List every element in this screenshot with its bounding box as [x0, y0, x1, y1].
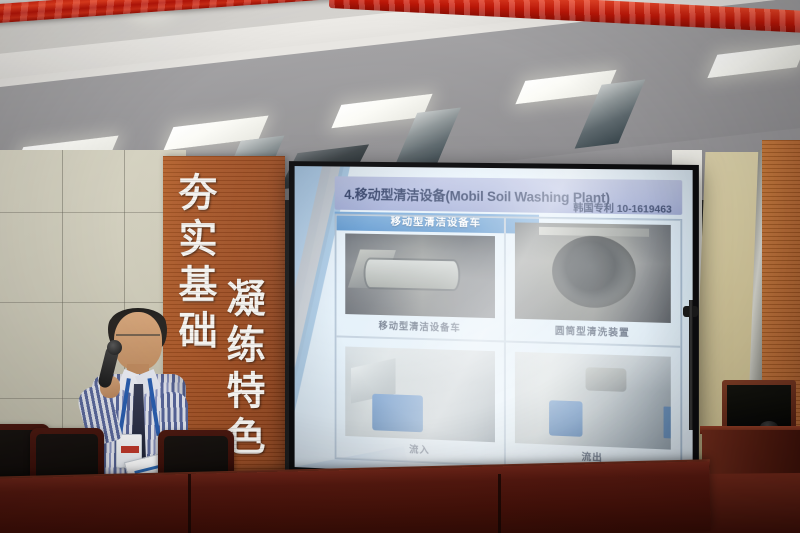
slide-surface: 4.移动型清洁设备(Mobil Soil Washing Plant) 韩国专利… — [295, 166, 693, 485]
floor-mic-stand — [689, 300, 693, 430]
slide-photo-cell: 流入 — [336, 336, 505, 465]
monitor-screen — [727, 385, 791, 431]
projection-screen: 4.移动型清洁设备(Mobil Soil Washing Plant) 韩国专利… — [289, 161, 699, 493]
photo-outflow-plant — [515, 352, 671, 450]
slide-photo-cell: 流出 — [505, 341, 681, 473]
photo-inflow-plant — [345, 346, 495, 442]
slide-photo-cell: 圆筒型清洗装置 — [505, 217, 681, 347]
slide-photo-cell: 移动型清洁设备车 — [336, 215, 505, 342]
slide-photo-grid: 移动型清洁设备车 圆筒型清洗装置 流入 流出 — [335, 214, 683, 475]
microphone-head-icon — [107, 340, 122, 355]
desk-seam — [498, 474, 501, 533]
slide-patent-number: 韩国专利 10-1619463 — [573, 199, 672, 216]
photo-mobile-washing-truck — [345, 233, 495, 318]
photo-cylindrical-washer — [515, 222, 671, 323]
desk-seam — [188, 474, 191, 533]
slide-title: 4.移动型清洁设备(Mobil Soil Washing Plant) — [344, 183, 609, 206]
slide-title-bar: 4.移动型清洁设备(Mobil Soil Washing Plant) 韩国专利… — [335, 176, 683, 215]
conference-room-photo: 夯实基础 凝练特色 4.移动型清洁设备(Mobil Soil Washing P… — [0, 0, 800, 533]
presenter-glasses — [116, 334, 160, 343]
